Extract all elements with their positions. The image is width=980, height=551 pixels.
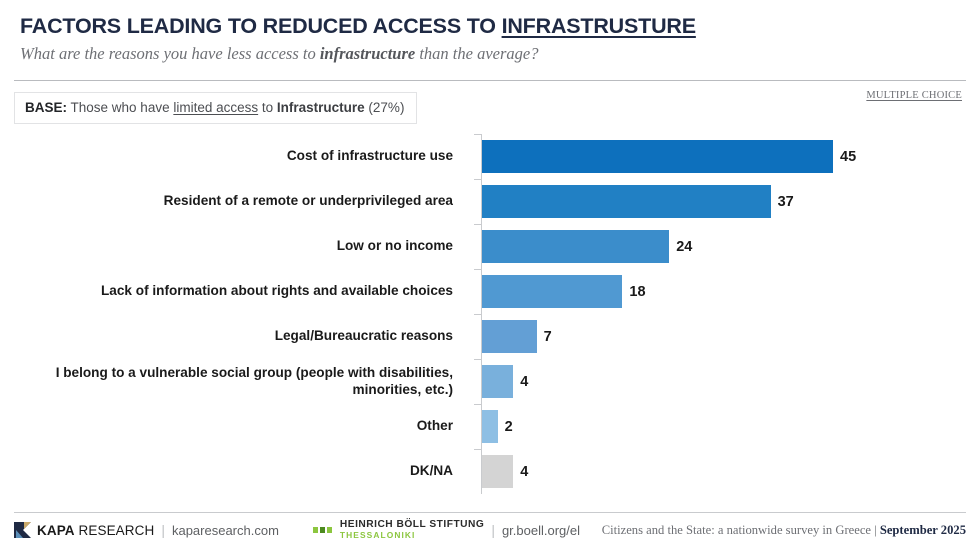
- subtitle-part2: than the average?: [415, 44, 538, 63]
- page-title: FACTORS LEADING TO REDUCED ACCESS TO INF…: [20, 14, 960, 38]
- footer-separator-2: |: [491, 522, 495, 538]
- bar-value-label: 24: [676, 239, 692, 255]
- footer-divider: [14, 512, 966, 513]
- axis-tick: [474, 134, 481, 135]
- axis-tick: [474, 314, 481, 315]
- category-label: Resident of a remote or underprivileged …: [0, 193, 467, 209]
- bar-container: 2: [482, 404, 513, 449]
- category-label: Low or no income: [0, 238, 467, 254]
- boell-line2: THESSALONIKI: [340, 531, 484, 540]
- chart-row: Resident of a remote or underprivileged …: [0, 179, 980, 224]
- footer: KAPA RESEARCH | kaparesearch.com HEINRIC…: [14, 515, 966, 545]
- bar-value-label: 4: [520, 374, 528, 390]
- subtitle-part1: What are the reasons you have less acces…: [20, 44, 320, 63]
- category-label: Legal/Bureaucratic reasons: [0, 328, 467, 344]
- survey-text: Citizens and the State: a nationwide sur…: [602, 523, 880, 537]
- bar[interactable]: [482, 185, 771, 218]
- survey-credit: Citizens and the State: a nationwide sur…: [602, 523, 966, 538]
- bar[interactable]: [482, 365, 513, 398]
- page-subtitle: What are the reasons you have less acces…: [20, 44, 960, 64]
- multiple-choice-note: MULTIPLE CHOICE: [866, 90, 962, 101]
- base-label: BASE:: [25, 100, 67, 115]
- bar-container: 18: [482, 269, 646, 314]
- header: FACTORS LEADING TO REDUCED ACCESS TO INF…: [0, 0, 980, 64]
- chart-row: I belong to a vulnerable social group (p…: [0, 359, 980, 404]
- kapa-wordmark: KAPA RESEARCH: [37, 523, 154, 538]
- bar[interactable]: [482, 140, 833, 173]
- axis-tick: [474, 359, 481, 360]
- bar-value-label: 7: [544, 329, 552, 345]
- axis-tick: [474, 449, 481, 450]
- bar-container: 24: [482, 224, 692, 269]
- axis-tick: [474, 404, 481, 405]
- bar-container: 37: [482, 179, 794, 224]
- bar-value-label: 45: [840, 149, 856, 165]
- category-label: Other: [0, 418, 467, 434]
- chart-row: Legal/Bureaucratic reasons7: [0, 314, 980, 359]
- title-main-text: FACTORS LEADING TO REDUCED ACCESS TO: [20, 14, 502, 38]
- bar-value-label: 2: [505, 419, 513, 435]
- chart-row: Other2: [0, 404, 980, 449]
- bar-container: 45: [482, 134, 856, 179]
- survey-date: September 2025: [880, 523, 966, 537]
- category-label: I belong to a vulnerable social group (p…: [0, 365, 467, 397]
- chart-rows: Cost of infrastructure use45Resident of …: [0, 134, 980, 494]
- category-label: DK/NA: [0, 463, 467, 479]
- chart-row: DK/NA4: [0, 449, 980, 494]
- base-note: BASE: Those who have limited access to I…: [14, 92, 417, 124]
- base-text-3: (27%): [365, 100, 405, 115]
- boell-logo: HEINRICH BÖLL STIFTUNG THESSALONIKI: [313, 520, 484, 540]
- bar[interactable]: [482, 320, 537, 353]
- base-underlined: limited access: [173, 100, 258, 115]
- boell-wordmark: HEINRICH BÖLL STIFTUNG THESSALONIKI: [340, 520, 484, 540]
- bar[interactable]: [482, 230, 669, 263]
- boell-url[interactable]: gr.boell.org/el: [502, 523, 580, 538]
- bar[interactable]: [482, 275, 622, 308]
- bar-chart: Cost of infrastructure use45Resident of …: [0, 130, 980, 502]
- base-text-2: to: [258, 100, 277, 115]
- axis-tick: [474, 224, 481, 225]
- bar-value-label: 4: [520, 464, 528, 480]
- kapa-light-text: RESEARCH: [75, 523, 155, 538]
- boell-squares-icon: [313, 525, 335, 535]
- bar-container: 4: [482, 449, 528, 494]
- category-label: Lack of information about rights and ava…: [0, 283, 467, 299]
- slide-root: FACTORS LEADING TO REDUCED ACCESS TO INF…: [0, 0, 980, 551]
- kapa-logo: KAPA RESEARCH: [14, 521, 154, 539]
- title-underlined-text: INFRASTRUSTURE: [502, 14, 696, 38]
- bar-container: 4: [482, 359, 528, 404]
- chart-row: Lack of information about rights and ava…: [0, 269, 980, 314]
- header-divider: [14, 80, 966, 81]
- bar[interactable]: [482, 410, 498, 443]
- kapa-bold-text: KAPA: [37, 523, 75, 538]
- bar-value-label: 18: [629, 284, 645, 300]
- base-text-1: Those who have: [67, 100, 173, 115]
- axis-tick: [474, 179, 481, 180]
- axis-tick: [474, 269, 481, 270]
- footer-separator-1: |: [161, 522, 165, 538]
- bar[interactable]: [482, 455, 513, 488]
- category-label: Cost of infrastructure use: [0, 148, 467, 164]
- bar-container: 7: [482, 314, 552, 359]
- kapa-k-mark-icon: [14, 521, 32, 539]
- subtitle-bold: infrastructure: [320, 44, 415, 63]
- chart-row: Cost of infrastructure use45: [0, 134, 980, 179]
- kapa-url[interactable]: kaparesearch.com: [172, 523, 279, 538]
- bar-value-label: 37: [778, 194, 794, 210]
- base-bold: Infrastructure: [277, 100, 365, 115]
- chart-row: Low or no income24: [0, 224, 980, 269]
